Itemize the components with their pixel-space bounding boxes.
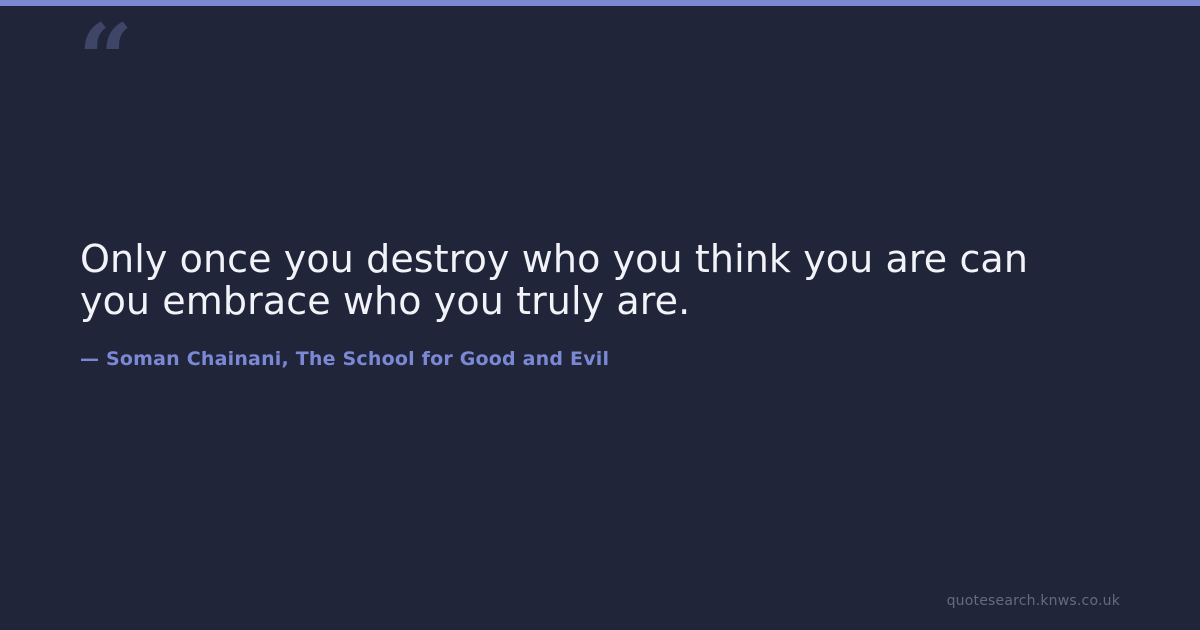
quote-card: “ Only once you destroy who you think yo… xyxy=(0,0,1200,630)
site-watermark: quotesearch.knws.co.uk xyxy=(947,592,1120,610)
top-accent-bar xyxy=(0,0,1200,6)
quote-text: Only once you destroy who you think you … xyxy=(80,238,1110,322)
quote-attribution: — Soman Chainani, The School for Good an… xyxy=(80,346,609,372)
quotation-mark-icon: “ xyxy=(78,12,131,108)
quote-body: Only once you destroy who you think you … xyxy=(80,238,1110,322)
